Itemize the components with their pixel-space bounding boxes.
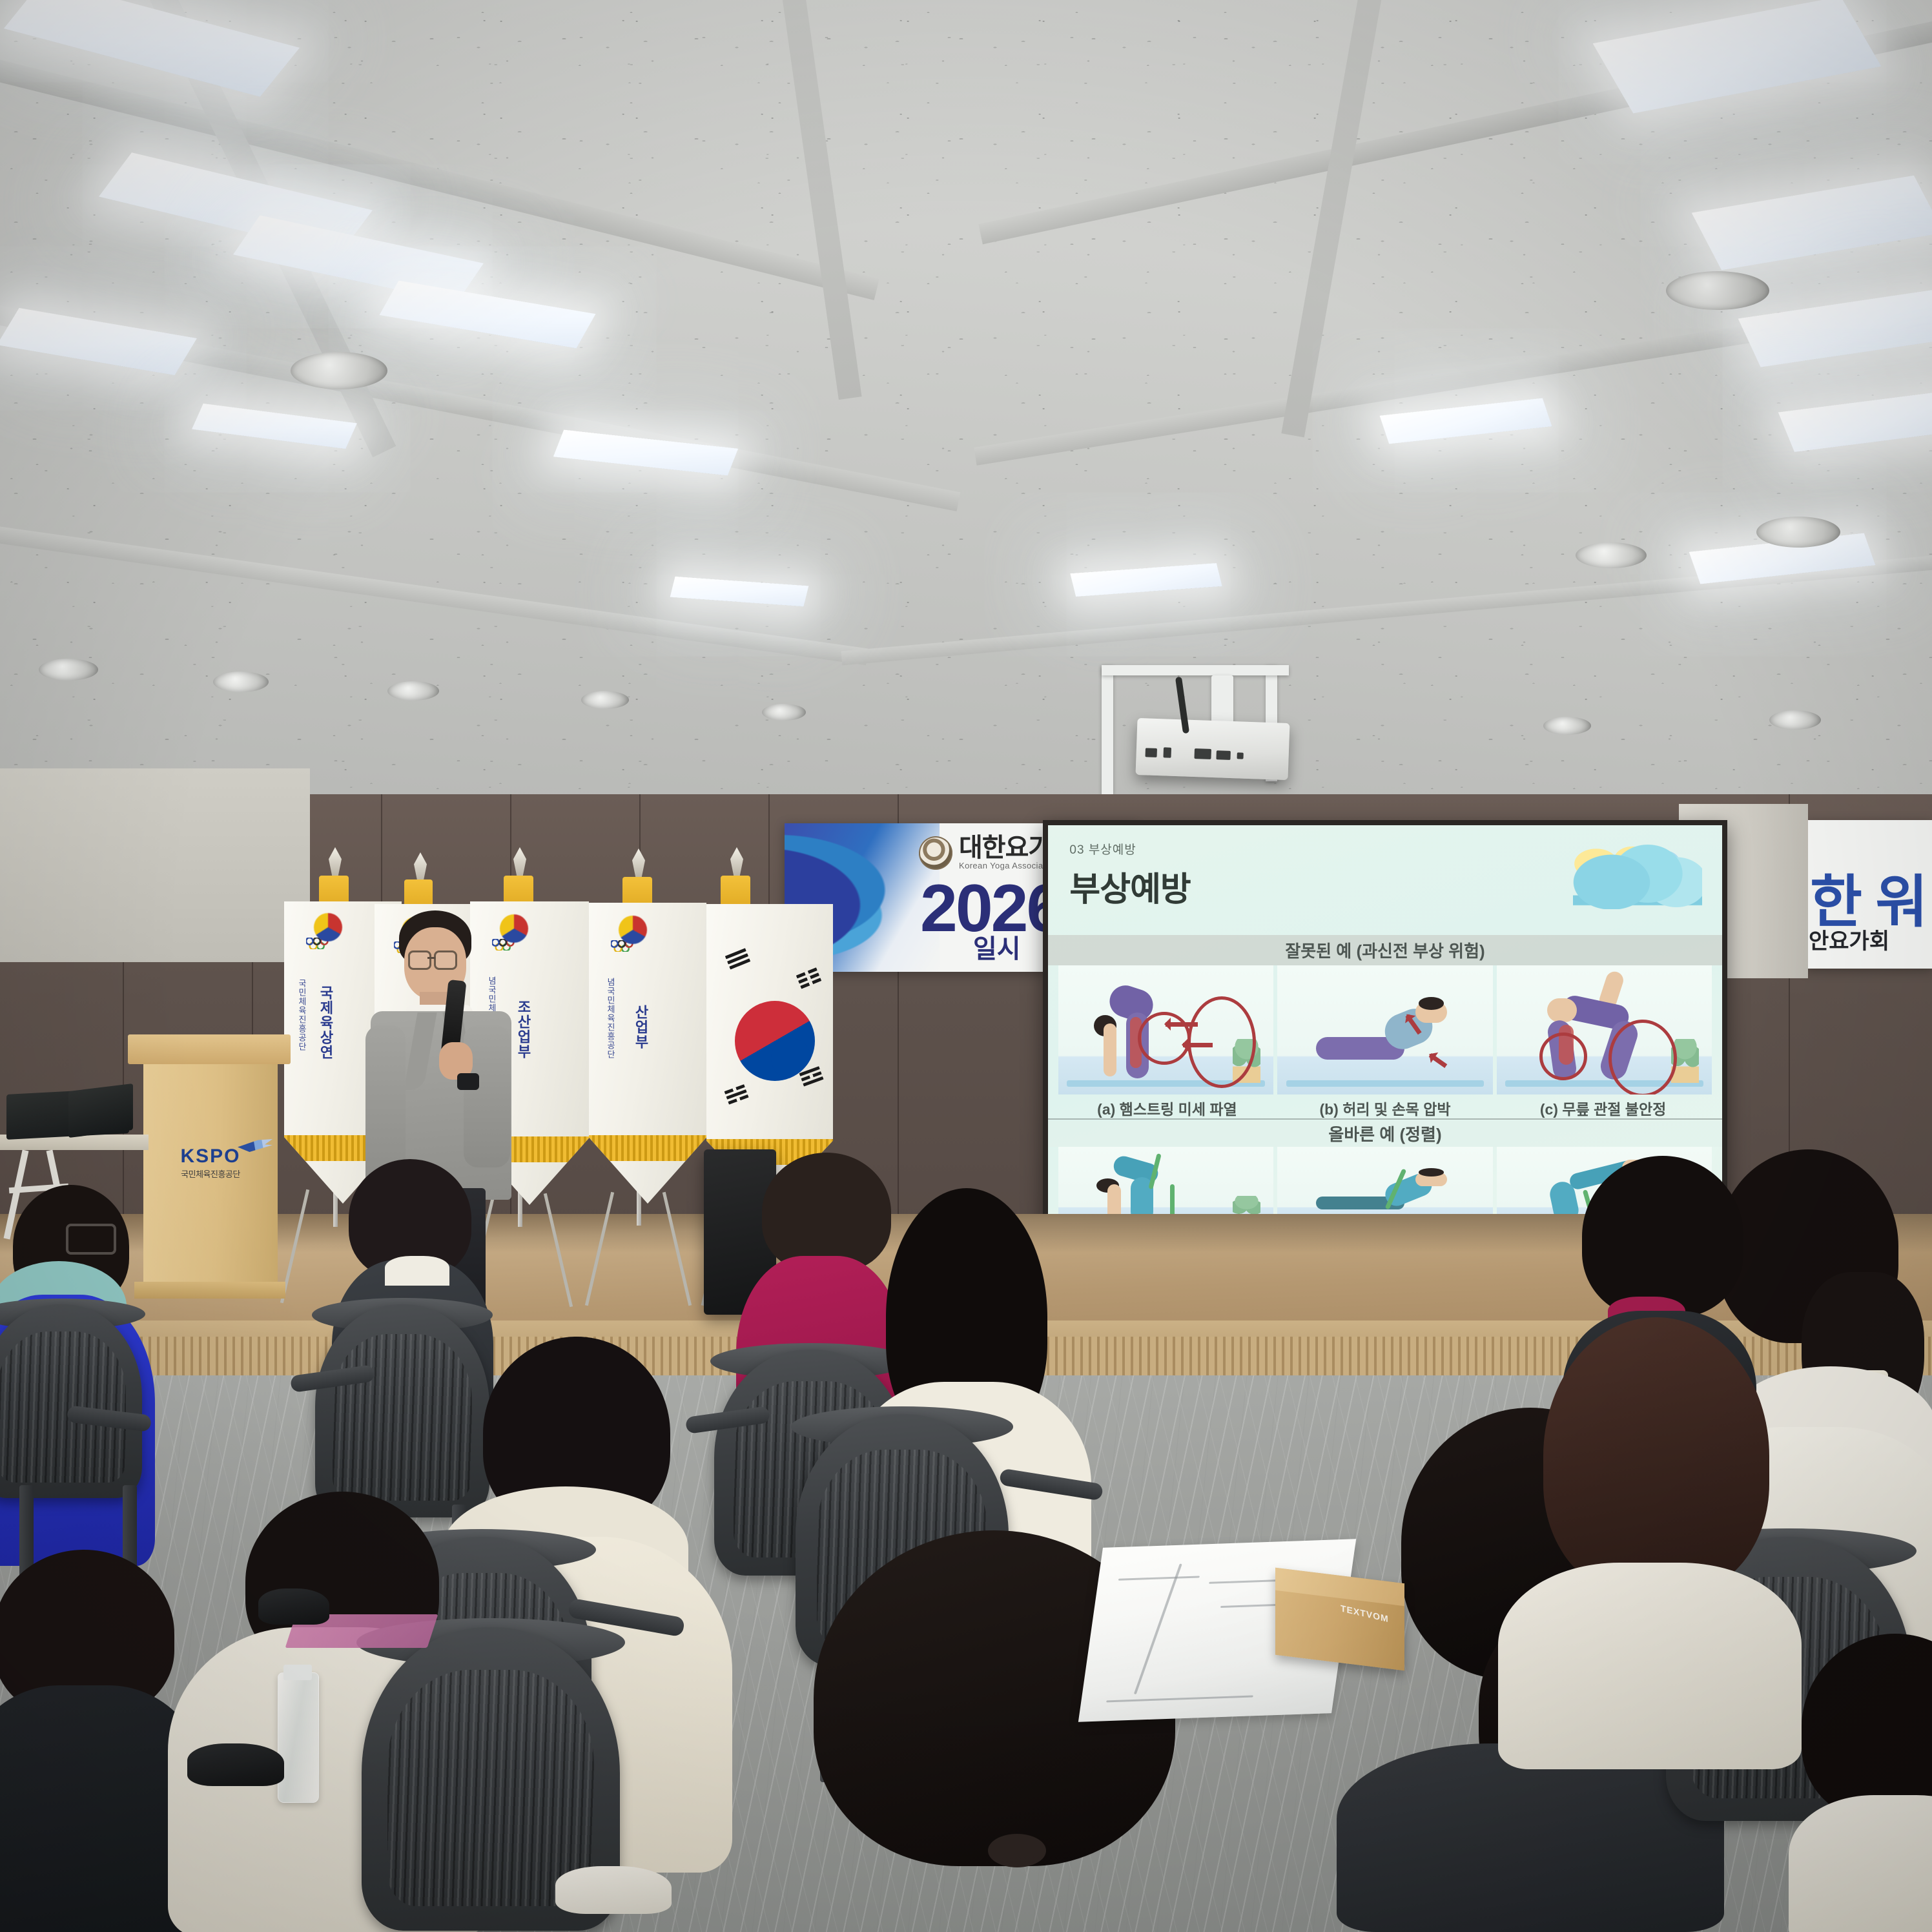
presenter-glasses-left-icon [408, 951, 431, 970]
caption-c: (c) 무릎 관절 불안정 [1494, 1097, 1712, 1119]
band-correct-examples: 올바른 예 (정렬) [1048, 1121, 1722, 1147]
attendee-hair [1802, 1634, 1932, 1821]
trigram-geon-icon [725, 948, 751, 971]
chair-back-ribs [387, 1670, 594, 1907]
bottle-cap [283, 1665, 312, 1680]
yoga-figure-cobra [1316, 1002, 1458, 1082]
projector [1136, 718, 1290, 780]
projector-port [1194, 748, 1211, 759]
kspo-korean-name: 국민체육진흥공단 [159, 1167, 262, 1180]
attendee-far-right-edge [1802, 1634, 1932, 1932]
ceiling-downlight [1769, 710, 1821, 730]
attendee-hair-tie [988, 1834, 1046, 1867]
presenter-glasses-right-icon [434, 951, 457, 970]
projector-port [1237, 752, 1243, 759]
figure-arm [1104, 1023, 1117, 1076]
cardboard-box: TEXTVOM [1275, 1568, 1404, 1671]
projector-port [1146, 748, 1157, 757]
ceiling-downlight [387, 681, 439, 701]
wall-left-light [0, 768, 310, 962]
ceiling-downlight [581, 691, 629, 709]
photo-scene: 대한요가회 Korean Yoga Association 2026 상 일시 … [0, 0, 1932, 1932]
samtaeguk-icon [619, 916, 647, 944]
taeguk-symbol-icon [735, 1001, 815, 1081]
ceiling-downlight [1543, 717, 1591, 735]
paper-crease [1118, 1576, 1200, 1580]
trigram-gam-icon [724, 1084, 750, 1106]
divider-line [1048, 1118, 1722, 1120]
attendee-hair [1543, 1317, 1769, 1595]
av-equipment-laptop [68, 1084, 133, 1138]
podium-top [128, 1034, 291, 1064]
figure-head [1547, 998, 1576, 1023]
projector-mount-bracket [1102, 665, 1113, 794]
box-brand-label: TEXTVOM [1341, 1603, 1389, 1624]
ceiling-downlight [213, 672, 269, 692]
wrong-example-image-c [1497, 965, 1712, 1094]
projector-port [1163, 747, 1171, 757]
wrong-example-images [1058, 965, 1712, 1094]
ceiling-downlight [1666, 271, 1769, 310]
paper-crease [1106, 1695, 1253, 1702]
attendee-torso [1789, 1795, 1932, 1932]
flag-name-text: 산업부 [630, 1005, 651, 1049]
flag-name-text: 국제육상연 [315, 985, 336, 1060]
presenter-watch [457, 1073, 479, 1090]
water-bottle [278, 1672, 319, 1803]
injury-arrow [1166, 1022, 1198, 1027]
presenter-arm-right [464, 1025, 510, 1167]
ceiling-downlight [39, 659, 98, 681]
wrong-example-image-b [1277, 965, 1493, 1094]
banner-subline: 일시 [973, 928, 1021, 965]
ceiling-downlight [1576, 542, 1647, 568]
banner-right-subline: 안요가회 [1809, 923, 1889, 955]
ceiling-downlight [291, 352, 387, 389]
chair-back-ribs [0, 1331, 126, 1483]
paper-fold-line [1134, 1563, 1182, 1694]
attendee-brown-bob [1505, 1317, 1808, 1769]
flag-org-text: 국민체육진흥공단 [296, 979, 308, 1051]
slide-title: 부상예방 [1069, 862, 1190, 910]
slide-section-label: 03 부상예방 [1069, 840, 1136, 858]
attendee-glasses-icon [66, 1224, 116, 1255]
ceiling [0, 0, 1932, 833]
injury-highlight-circle [1608, 1020, 1677, 1094]
attendee-hair [1582, 1156, 1743, 1317]
trigram-gon-icon [796, 967, 822, 991]
injury-arrow [1183, 1043, 1213, 1047]
shoe [555, 1866, 672, 1914]
figure-hair [1419, 997, 1444, 1010]
samtaeguk-icon [314, 913, 342, 941]
flag-fringe [589, 1135, 706, 1161]
band-wrong-examples: 잘못된 예 (과신전 부상 위험) [1048, 935, 1722, 965]
ceiling-downlight [762, 704, 806, 721]
caption-a: (a) 햄스트링 미세 파열 [1058, 1097, 1277, 1119]
yoga-association-emblem-icon [919, 836, 952, 870]
ceiling-downlight [1756, 517, 1840, 548]
event-banner-right: 한 워 안요가회 [1805, 820, 1932, 969]
sports-illustration-icon [1573, 838, 1702, 909]
flag-org-text: 념국민체육진흥공단 [604, 978, 617, 1059]
attendee-torso [1498, 1563, 1802, 1769]
attendee-collar [385, 1256, 449, 1286]
wrong-example-image-a [1058, 965, 1274, 1094]
shoe [258, 1588, 329, 1625]
shoe [187, 1743, 284, 1786]
wrong-example-captions: (a) 햄스트링 미세 파열 (b) 허리 및 손목 압박 (c) 무릎 관절 … [1058, 1097, 1712, 1119]
presenter-glasses-bridge-icon [427, 957, 435, 959]
chair [0, 1304, 142, 1498]
caption-b: (b) 허리 및 손목 압박 [1276, 1097, 1494, 1119]
injury-highlight-circle [1187, 996, 1256, 1088]
projector-port [1216, 750, 1230, 760]
projector-mount-bracket [1102, 665, 1289, 675]
projector-mount-arm [1211, 675, 1233, 723]
